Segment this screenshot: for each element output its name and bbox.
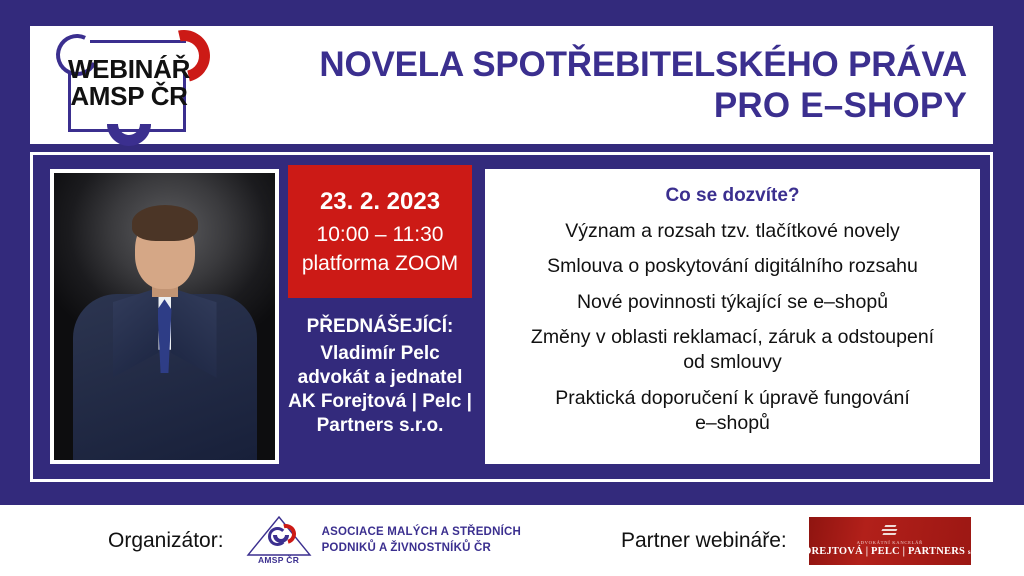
webinar-platform: platforma ZOOM bbox=[302, 252, 458, 276]
amsp-name-line-2: PODNIKŮ A ŽIVNOSTNÍKŮ ČR bbox=[322, 541, 521, 556]
speaker-photo-frame bbox=[50, 169, 279, 464]
webinar-brand-logo: WEBINÁŘ AMSP ČR bbox=[30, 26, 240, 144]
brand-line-1: WEBINÁŘ bbox=[54, 56, 204, 83]
speaker-label: PŘEDNÁŠEJÍCÍ: bbox=[281, 315, 479, 339]
partner-name-suffix: s.r.o. bbox=[968, 548, 971, 556]
agenda-item: Význam a rozsah tzv. tlačítkové novely bbox=[499, 219, 966, 244]
date-box: 23. 2. 2023 10:00 – 11:30 platforma ZOOM bbox=[288, 165, 472, 298]
header-band: WEBINÁŘ AMSP ČR NOVELA SPOTŘEBITELSKÉHO … bbox=[30, 26, 993, 144]
agenda-item: Smlouva o poskytování digitálního rozsah… bbox=[499, 254, 966, 279]
partner-label: Partner webináře: bbox=[621, 529, 787, 553]
partner-subtitle: ADVOKÁTNÍ KANCELÁŘ bbox=[857, 540, 923, 545]
main-panel: 23. 2. 2023 10:00 – 11:30 platforma ZOOM… bbox=[30, 152, 993, 482]
speaker-firm-line-2: Partners s.r.o. bbox=[281, 414, 479, 438]
partner-group: Partner webináře: ADVOKÁTNÍ KANCELÁŘ FOR… bbox=[621, 517, 971, 565]
agenda-item: Praktická doporučení k úpravě fungování … bbox=[499, 386, 966, 437]
portrait-hair bbox=[132, 205, 198, 241]
webinar-poster: WEBINÁŘ AMSP ČR NOVELA SPOTŘEBITELSKÉHO … bbox=[0, 0, 1024, 576]
amsp-name-line-1: ASOCIACE MALÝCH A STŘEDNÍCH bbox=[322, 525, 521, 540]
speaker-firm-line-1: AK Forejtová | Pelc | bbox=[281, 390, 479, 414]
speaker-photo bbox=[54, 173, 275, 460]
partner-name-text: FOREJTOVÁ | PELC | PARTNERS bbox=[809, 546, 965, 557]
agenda-item: Nové povinnosti týkající se e–shopů bbox=[499, 290, 966, 315]
title-line-2: PRO E–SHOPY bbox=[240, 85, 967, 126]
amsp-full-name: ASOCIACE MALÝCH A STŘEDNÍCH PODNIKŮ A ŽI… bbox=[322, 525, 521, 556]
quill-lines-icon bbox=[882, 524, 898, 538]
partner-logo: ADVOKÁTNÍ KANCELÁŘ FOREJTOVÁ | PELC | PA… bbox=[809, 517, 971, 565]
bowl-icon bbox=[107, 124, 151, 146]
footer-bar: Organizátor: AMSP ČR ASOCIACE MALÝCH A S… bbox=[0, 505, 1024, 576]
speaker-name: Vladimír Pelc bbox=[281, 342, 479, 366]
speaker-role: advokát a jednatel bbox=[281, 366, 479, 390]
title-line-1: NOVELA SPOTŘEBITELSKÉHO PRÁVA bbox=[240, 44, 967, 85]
agenda-item: Změny v oblasti reklamací, záruk a odsto… bbox=[499, 325, 966, 376]
webinar-date: 23. 2. 2023 bbox=[320, 188, 440, 216]
amsp-caption: AMSP ČR bbox=[246, 555, 312, 565]
agenda-title: Co se dozvíte? bbox=[499, 185, 966, 207]
webinar-time: 10:00 – 11:30 bbox=[317, 223, 444, 247]
partner-name: FOREJTOVÁ | PELC | PARTNERS s.r.o. bbox=[809, 546, 971, 557]
agenda-panel: Co se dozvíte? Význam a rozsah tzv. tlač… bbox=[485, 169, 980, 464]
organizer-group: Organizátor: AMSP ČR ASOCIACE MALÝCH A S… bbox=[108, 515, 521, 567]
brand-text: WEBINÁŘ AMSP ČR bbox=[54, 56, 204, 109]
brand-line-2: AMSP ČR bbox=[54, 83, 204, 110]
amsp-logo: AMSP ČR bbox=[246, 515, 312, 567]
brand-frame: WEBINÁŘ AMSP ČR bbox=[54, 40, 204, 132]
organizer-label: Organizátor: bbox=[108, 529, 224, 553]
page-title: NOVELA SPOTŘEBITELSKÉHO PRÁVA PRO E–SHOP… bbox=[240, 44, 993, 127]
speaker-block: PŘEDNÁŠEJÍCÍ: Vladimír Pelc advokát a je… bbox=[281, 315, 479, 438]
